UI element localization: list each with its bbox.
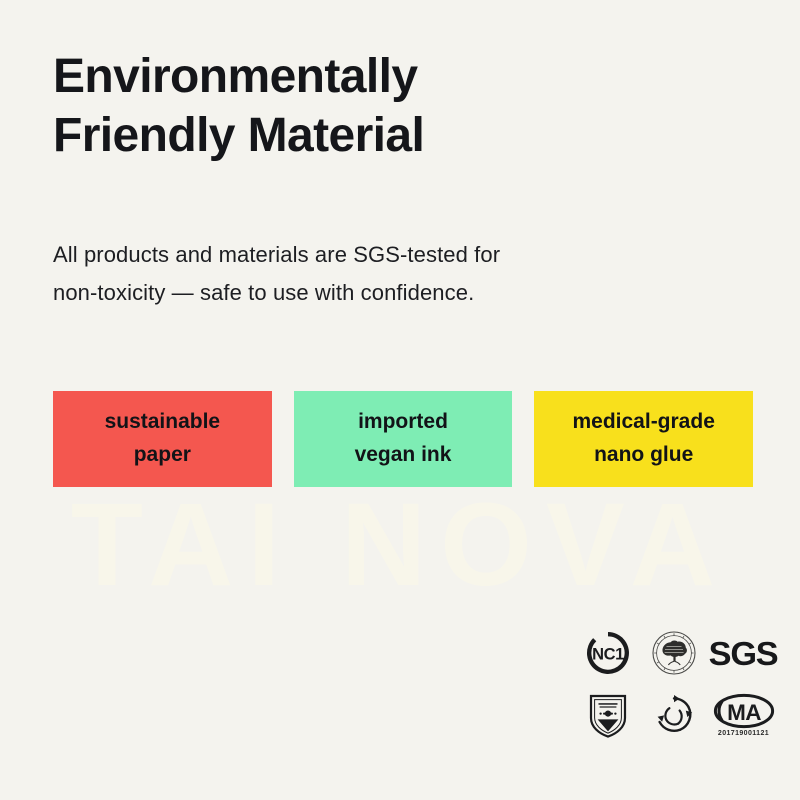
- page-subtitle-line-1: All products and materials are SGS-teste…: [53, 236, 653, 274]
- certification-logo-grid: NC1 SGS: [575, 622, 780, 746]
- brand-watermark: TAI NOVA: [0, 486, 800, 604]
- badge-line-1: medical-grade: [572, 406, 714, 439]
- page-subtitle: All products and materials are SGS-teste…: [53, 236, 653, 312]
- page-title-line-1: Environmentally: [53, 48, 693, 107]
- sgs-wordmark-icon: SGS: [709, 637, 778, 670]
- certification-shield-emblem: [575, 684, 641, 746]
- tree-seal-icon: [651, 630, 697, 676]
- material-badge-row: sustainable paper imported vegan ink med…: [53, 391, 753, 487]
- badge-line-1: imported: [358, 406, 448, 439]
- page-subtitle-line-2: non-toxicity — safe to use with confiden…: [53, 274, 653, 312]
- badge-sustainable-paper: sustainable paper: [53, 391, 272, 487]
- certification-forest-seal: [641, 622, 707, 684]
- certification-recycle: [641, 684, 707, 746]
- cma-oval-icon: MA 201719001121: [713, 693, 775, 737]
- nc1-circle-icon: NC1: [585, 630, 631, 676]
- recycle-arrows-icon: [651, 692, 697, 738]
- shield-chevron-icon: [586, 691, 630, 739]
- cma-oval-shape-icon: MA: [713, 693, 775, 729]
- badge-line-2: vegan ink: [355, 439, 452, 472]
- badge-medical-grade-nano-glue: medical-grade nano glue: [534, 391, 753, 487]
- badge-line-2: paper: [134, 439, 191, 472]
- svg-text:MA: MA: [727, 700, 761, 725]
- cma-certificate-number: 201719001121: [718, 730, 769, 737]
- badge-line-2: nano glue: [594, 439, 693, 472]
- certification-cma: MA 201719001121: [707, 684, 780, 746]
- badge-imported-vegan-ink: imported vegan ink: [294, 391, 513, 487]
- page-title: Environmentally Friendly Material: [53, 48, 693, 165]
- certification-sgs: SGS: [707, 622, 780, 684]
- badge-line-1: sustainable: [105, 406, 221, 439]
- poster-canvas: TAI NOVA Environmentally Friendly Materi…: [0, 0, 800, 800]
- svg-text:NC1: NC1: [592, 646, 624, 664]
- page-title-line-2: Friendly Material: [53, 107, 693, 166]
- certification-nc1: NC1: [575, 622, 641, 684]
